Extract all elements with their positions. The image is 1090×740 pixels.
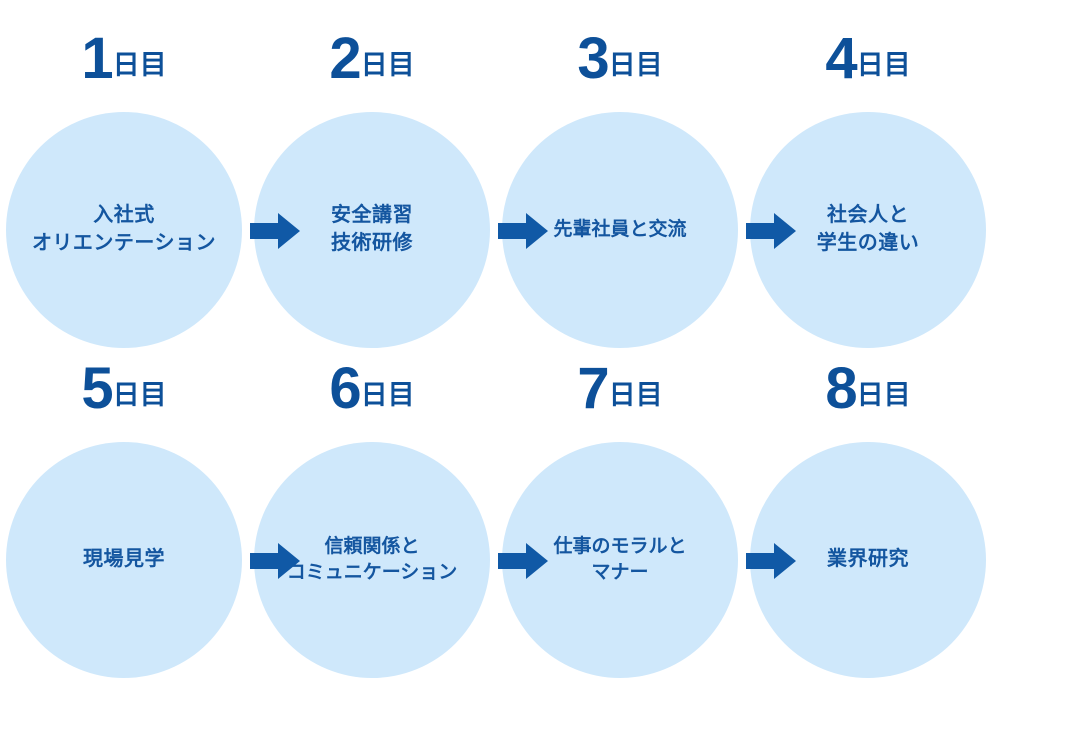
flow-step-3[interactable]: 3日目 先輩社員と交流 [496,30,744,360]
flow-arrow-6-to-7 [498,543,548,579]
step-number-4: 4日目 [744,30,992,88]
flow-step-5[interactable]: 5日目 現場見学 [0,360,248,690]
flow-row-1: 1日目 入社式 オリエンテーション 2日目 安全講習 技術研修 [0,30,1090,360]
step-number-3: 3日目 [496,30,744,88]
step-number-digit: 5 [81,356,112,421]
step-label-5: 現場見学 [79,546,169,574]
training-flow-diagram: 1日目 入社式 オリエンテーション 2日目 安全講習 技術研修 [0,0,1090,740]
step-number-digit: 6 [329,356,360,421]
step-number-digit: 7 [577,356,608,421]
step-number-1: 1日目 [0,30,248,88]
step-label-6: 信頼関係と コミュニケーション [283,534,462,586]
step-number-unit: 日目 [609,380,663,410]
step-number-unit: 日目 [857,50,911,80]
flow-arrow-1-to-2 [250,213,300,249]
step-number-6: 6日目 [248,360,496,418]
step-circle-1[interactable]: 入社式 オリエンテーション [6,112,242,348]
flow-arrow-2-to-3 [498,213,548,249]
step-number-7: 7日目 [496,360,744,418]
step-number-unit: 日目 [609,50,663,80]
step-label-4: 社会人と 学生の違い [813,202,924,257]
step-number-digit: 3 [577,26,608,91]
flow-arrow-3-to-4 [746,213,796,249]
flow-step-6[interactable]: 6日目 信頼関係と コミュニケーション [248,360,496,690]
flow-step-7[interactable]: 7日目 仕事のモラルと マナー [496,360,744,690]
step-number-digit: 1 [81,26,112,91]
step-number-digit: 8 [825,356,856,421]
step-label-1: 入社式 オリエンテーション [28,202,220,257]
flow-step-8[interactable]: 8日目 業界研究 [744,360,992,690]
step-label-7: 仕事のモラルと マナー [549,534,690,586]
step-number-5: 5日目 [0,360,248,418]
step-label-2: 安全講習 技術研修 [327,202,417,257]
step-number-unit: 日目 [361,50,415,80]
step-number-unit: 日目 [113,380,167,410]
flow-row-2: 5日目 現場見学 6日目 信頼関係と コミュニケーション [0,360,1090,690]
flow-arrow-5-to-6 [250,543,300,579]
step-number-digit: 2 [329,26,360,91]
step-number-digit: 4 [825,26,856,91]
step-number-unit: 日目 [113,50,167,80]
step-number-2: 2日目 [248,30,496,88]
step-label-8: 業界研究 [823,546,913,574]
step-label-3: 先輩社員と交流 [549,217,690,243]
flow-step-2[interactable]: 2日目 安全講習 技術研修 [248,30,496,360]
step-number-8: 8日目 [744,360,992,418]
flow-step-1[interactable]: 1日目 入社式 オリエンテーション [0,30,248,360]
step-number-unit: 日目 [361,380,415,410]
step-number-unit: 日目 [857,380,911,410]
step-circle-5[interactable]: 現場見学 [6,442,242,678]
flow-step-4[interactable]: 4日目 社会人と 学生の違い [744,30,992,360]
flow-arrow-7-to-8 [746,543,796,579]
